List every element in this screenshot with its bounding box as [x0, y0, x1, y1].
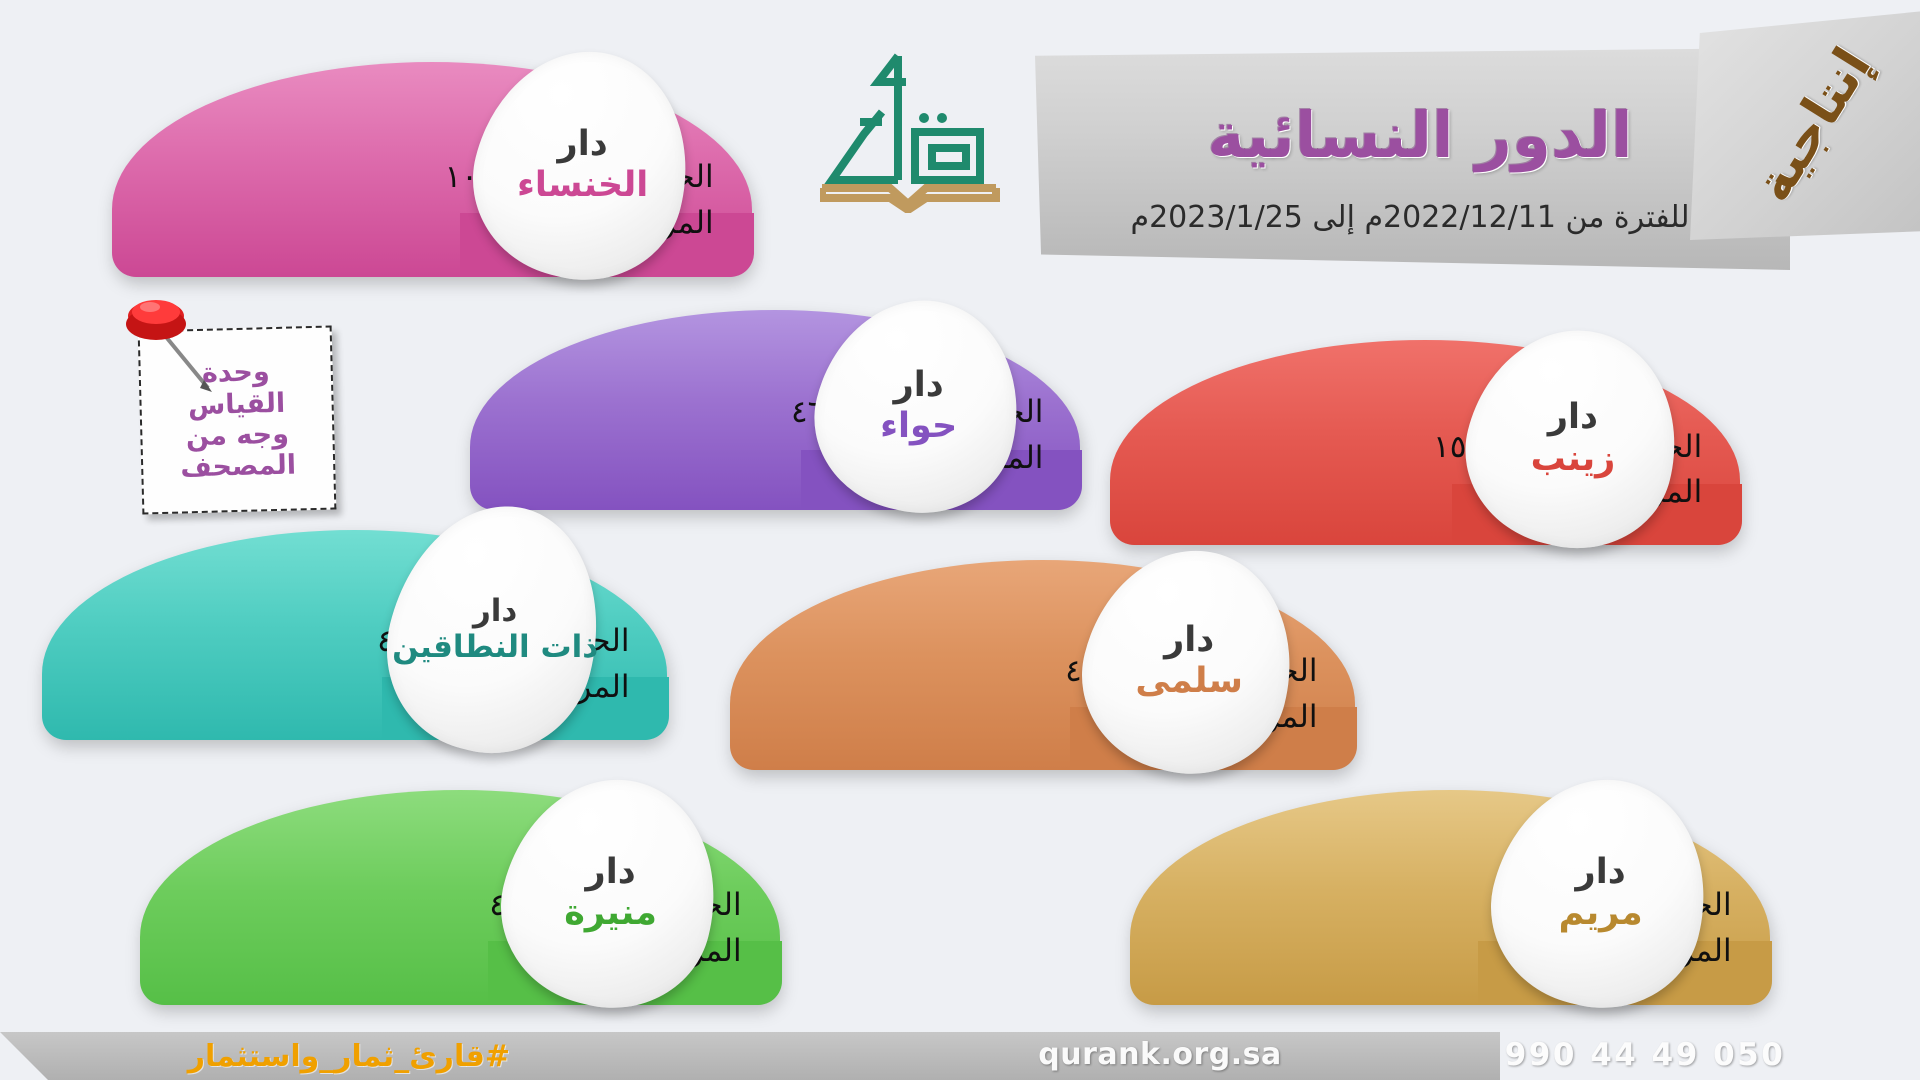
card-house-name: الخنساء	[517, 166, 648, 205]
card-house-name: حواء	[880, 407, 957, 446]
dar-card[interactable]: الحفظ الجديد / ٤١٨ المراجعة / ١٤٣٢ دار س…	[730, 560, 1355, 770]
card-name-label: دار مريم	[1495, 779, 1706, 1007]
card-name-label: دار سلمى	[1086, 550, 1292, 773]
card-dar-word: دار	[473, 594, 517, 629]
card-name-badge: دار الخنساء	[452, 29, 712, 301]
card-name-label: دار الخنساء	[477, 51, 688, 279]
card-house-name: مريم	[1558, 894, 1642, 933]
header-banner: الدور النسائية للفترة من 2022/12/11م إلى…	[1035, 48, 1790, 270]
dar-card[interactable]: الحفظ الجديد / ٤٤٣ المراجعة / ١٧٨٥ دار م…	[140, 790, 780, 1005]
card-name-label: دار زينب	[1469, 330, 1677, 547]
card-dar-word: دار	[893, 366, 943, 405]
card-name-badge: دار حواء	[795, 279, 1042, 533]
card-dar-word: دار	[557, 125, 607, 164]
card-name-label: دار حواء	[818, 300, 1019, 512]
qari-logo-icon	[820, 48, 1010, 213]
card-dar-word: دار	[1164, 621, 1214, 660]
card-name-badge: دار منيرة	[480, 757, 740, 1029]
card-name-badge: دار زينب	[1446, 308, 1700, 569]
card-dar-word: دار	[1575, 853, 1625, 892]
dar-card[interactable]: الحفظ الجديد / ١٥٢٢ المراجعة / ٦٨٦٠ دار …	[1110, 340, 1740, 545]
dar-card[interactable]: الحفظ الجديد / ١٠٦٢ المراجعة / ٣٣٠٢ دار …	[112, 62, 752, 277]
dar-card[interactable]: الحفظ الجديد / ٤٦٥ المراجعة / ٢٩١٦ دار ح…	[470, 310, 1080, 510]
period-subtitle: للفترة من 2022/12/11م إلى 2023/1/25م	[1070, 200, 1750, 235]
card-house-name: زينب	[1531, 439, 1616, 478]
dar-card[interactable]: الحفظ الجديد / ٨١ المراجعة / ٤٠٨ دار مري…	[1130, 790, 1770, 1005]
note-line-4: المصحف	[180, 450, 296, 484]
card-name-label: دار ذات النطاقين	[392, 505, 598, 753]
card-name-label: دار منيرة	[505, 779, 716, 1007]
infographic-canvas: الدور النسائية للفترة من 2022/12/11م إلى…	[0, 0, 1920, 1080]
note-line-3: وجه من	[186, 419, 290, 453]
footer-phone[interactable]: 050 49 44 990	[1480, 1037, 1810, 1073]
corner-badge: إنتاجية	[1690, 10, 1920, 240]
page-title: الدور النسائية	[1090, 104, 1750, 167]
card-dar-word: دار	[1548, 398, 1598, 437]
card-name-badge: دار سلمى	[1062, 528, 1316, 794]
unit-note: وحدة القياس وجه من المصحف	[120, 300, 340, 515]
card-dar-word: دار	[585, 853, 635, 892]
footer-hashtag: #قارئ_ثمار_واستثمار	[210, 1039, 510, 1074]
card-name-badge: دار مريم	[1470, 757, 1730, 1029]
card-house-name: سلمى	[1136, 662, 1244, 701]
card-name-badge: دار ذات النطاقين	[365, 484, 625, 774]
card-house-name: منيرة	[564, 894, 657, 933]
dar-card[interactable]: الحفظ الجديد / ٤٣٨ المراجعة / ١٥٦٠ دار ذ…	[42, 530, 667, 740]
footer-website[interactable]: qurank.org.sa	[1010, 1037, 1310, 1072]
pushpin-icon	[120, 292, 230, 402]
corner-badge-label: إنتاجية	[1742, 38, 1882, 213]
card-house-name: ذات النطاقين	[392, 630, 598, 663]
